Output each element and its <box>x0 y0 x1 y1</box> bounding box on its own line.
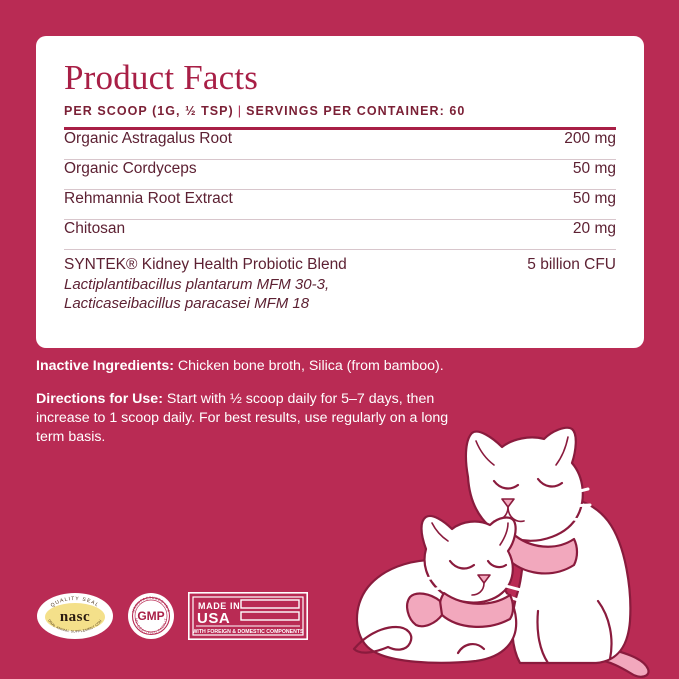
gmp-seal-icon: MANUFACTURED IN A GMP CERTIFIED FACILITY… <box>127 592 175 640</box>
table-row: Organic Cordyceps 50 mg <box>64 160 616 190</box>
table-row: Organic Astragalus Root 200 mg <box>64 130 616 160</box>
usa-line-3: WITH FOREIGN & DOMESTIC COMPONENTS <box>193 629 304 635</box>
directions-label: Directions for Use: <box>36 391 163 407</box>
nasc-seal-icon: QUALITY SEAL nasc NATIONAL ANIMAL SUPPLE… <box>36 592 114 640</box>
directions-paragraph: Directions for Use: Start with ½ scoop d… <box>36 390 466 447</box>
probiotic-blend-row: SYNTEK® Kidney Health Probiotic Blend 5 … <box>64 250 616 274</box>
blend-strain-2: Lacticaseibacillus paracasei MFM 18 <box>64 294 616 313</box>
ingredient-amount: 20 mg <box>561 220 616 238</box>
ingredient-amount: 200 mg <box>552 130 616 148</box>
blend-strain-1: Lactiplantibacillus plantarum MFM 30-3, <box>64 275 616 294</box>
made-in-usa-icon: MADE IN USA WITH FOREIGN & DOMESTIC COMP… <box>188 592 308 640</box>
inactive-ingredients-text: Chicken bone broth, Silica (from bamboo)… <box>174 358 444 374</box>
page-title: Product Facts <box>64 58 616 98</box>
serving-info: PER SCOOP (1G, ½ TSP)|SERVINGS PER CONTA… <box>64 104 616 118</box>
ingredient-amount: 50 mg <box>561 190 616 208</box>
blend-amount: 5 billion CFU <box>527 256 616 274</box>
ingredient-name: Chitosan <box>64 220 561 238</box>
usa-line-2: USA <box>197 610 230 627</box>
ingredient-name: Rehmannia Root Extract <box>64 190 561 208</box>
blend-strains: Lactiplantibacillus plantarum MFM 30-3, … <box>64 275 616 313</box>
ingredient-amount: 50 mg <box>561 160 616 178</box>
ingredient-name: Organic Astragalus Root <box>64 130 552 148</box>
serving-size: PER SCOOP (1G, ½ TSP) <box>64 104 234 118</box>
blend-name: SYNTEK® Kidney Health Probiotic Blend <box>64 256 347 274</box>
inactive-ingredients-paragraph: Inactive Ingredients: Chicken bone broth… <box>36 357 466 376</box>
table-row: Chitosan 20 mg <box>64 220 616 250</box>
inactive-ingredients-label: Inactive Ingredients: <box>36 358 174 374</box>
servings-per-container: SERVINGS PER CONTAINER: 60 <box>246 104 465 118</box>
label-body-copy: Inactive Ingredients: Chicken bone broth… <box>36 357 466 447</box>
gmp-wordmark: GMP <box>137 609 164 623</box>
nasc-wordmark: nasc <box>60 609 90 625</box>
product-facts-card: Product Facts PER SCOOP (1G, ½ TSP)|SERV… <box>36 36 644 348</box>
ingredient-name: Organic Cordyceps <box>64 160 561 178</box>
certification-badges: QUALITY SEAL nasc NATIONAL ANIMAL SUPPLE… <box>36 592 308 640</box>
serving-separator: | <box>234 104 246 118</box>
table-row: Rehmannia Root Extract 50 mg <box>64 190 616 220</box>
two-cats-illustration <box>352 415 662 679</box>
